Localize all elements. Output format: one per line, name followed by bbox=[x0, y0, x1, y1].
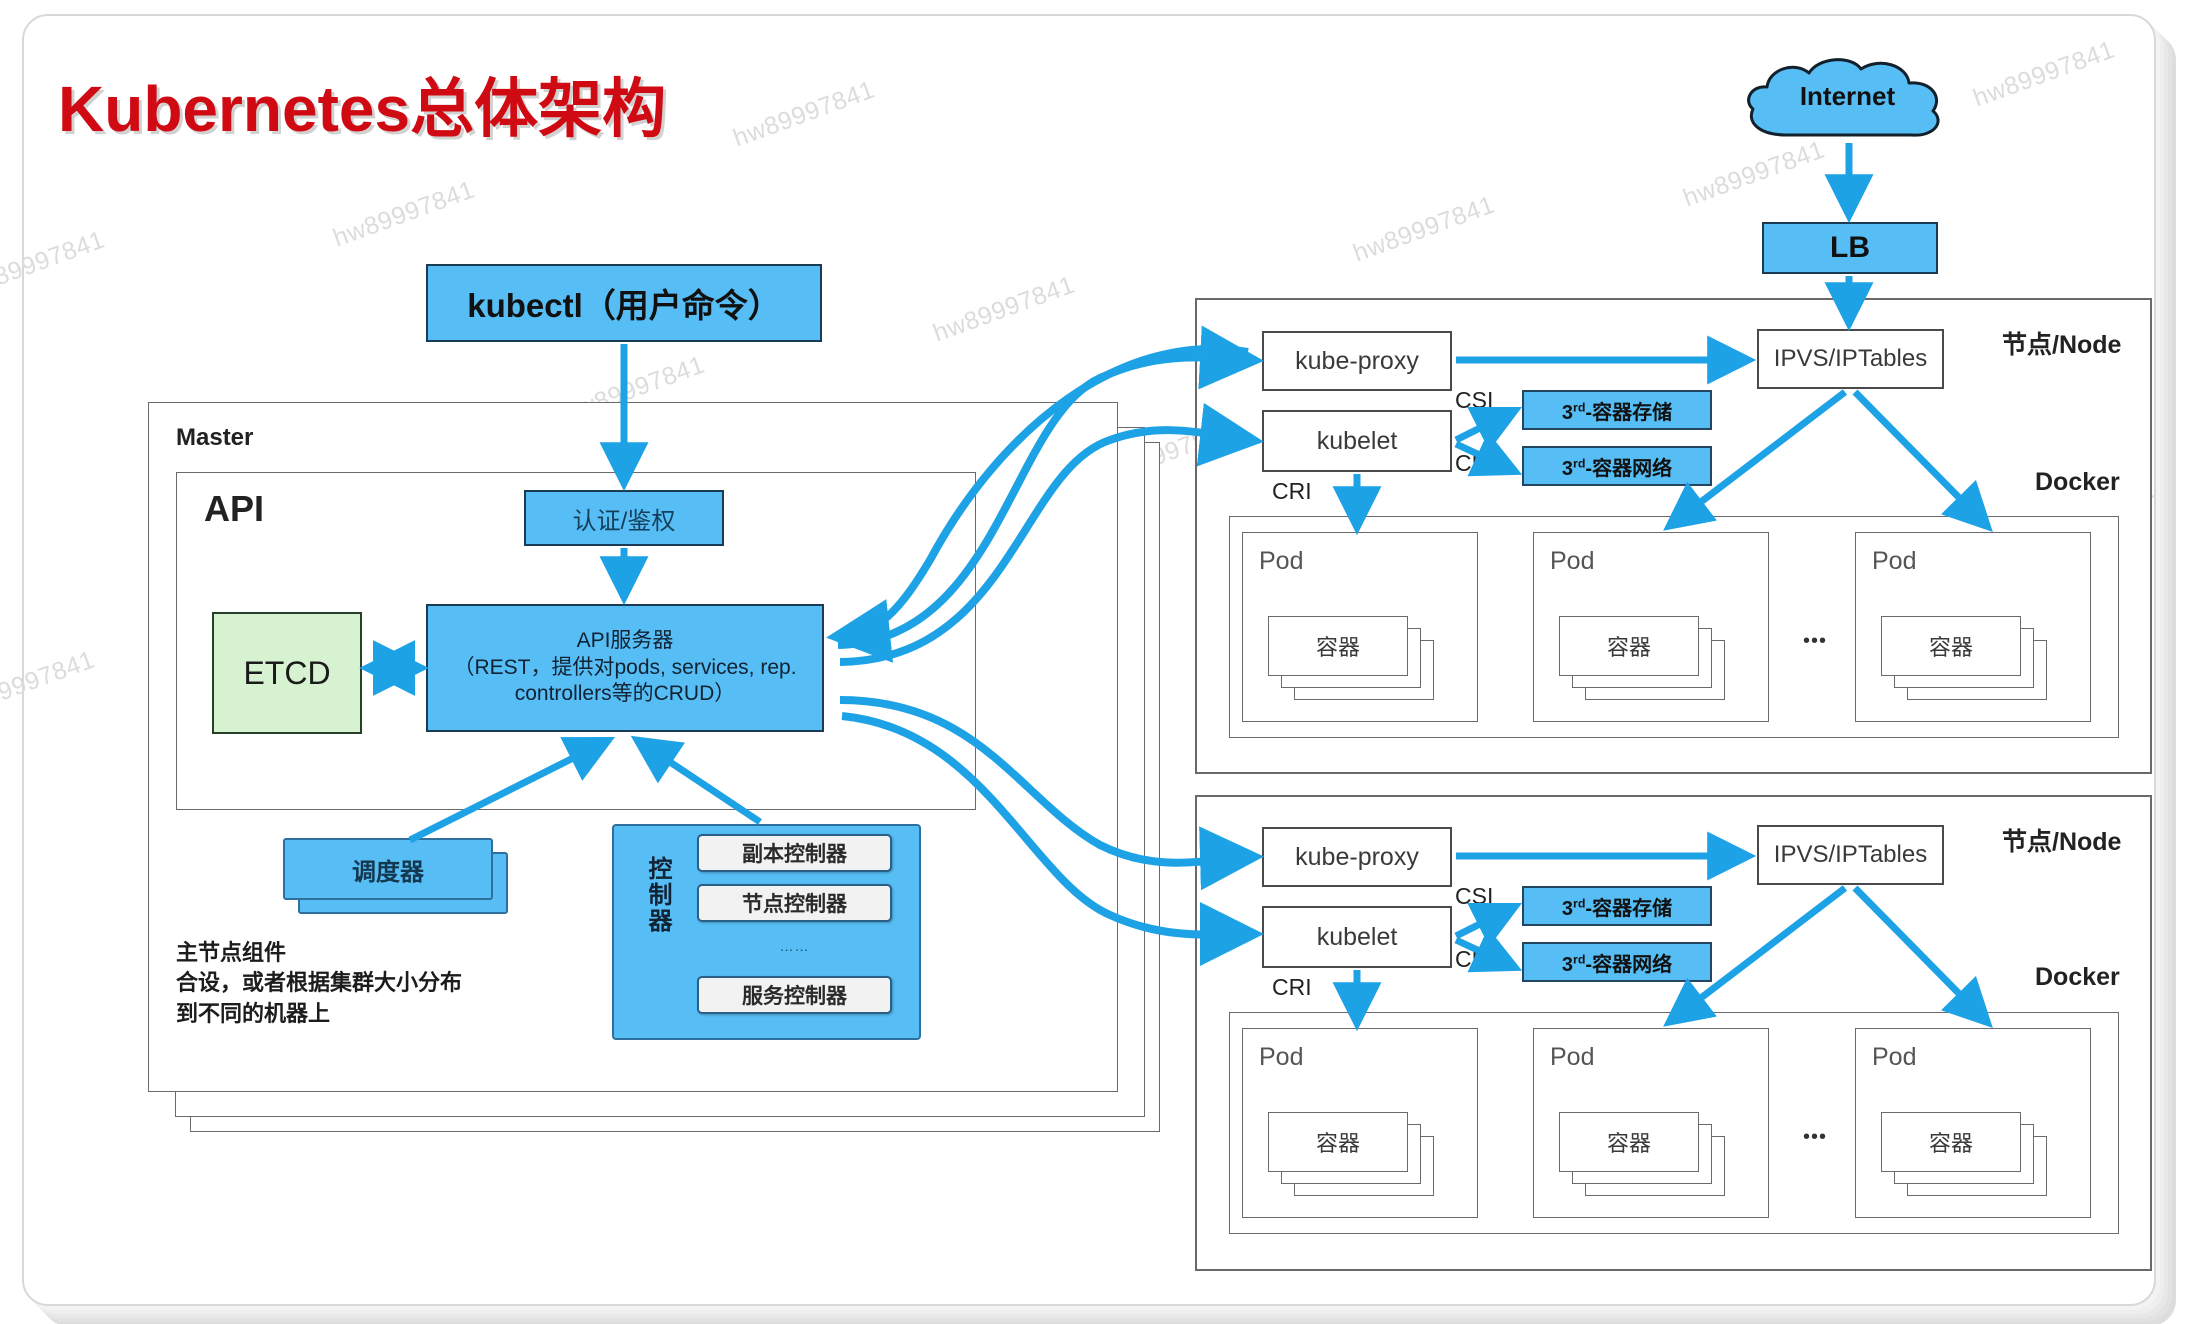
controller-item-1[interactable]: 节点控制器 bbox=[697, 884, 892, 922]
controller-item-label: 副本控制器 bbox=[742, 838, 847, 868]
lb-label: LB bbox=[1830, 231, 1870, 265]
pod-label: Pod bbox=[1550, 547, 1594, 576]
controller-item-label: 服务控制器 bbox=[742, 980, 847, 1010]
node-1-kube-proxy[interactable]: kube-proxy bbox=[1262, 331, 1452, 391]
master-label: Master bbox=[176, 424, 253, 452]
diagram-canvas: hw89997841 hw89997841 hw89997841 hw89997… bbox=[0, 0, 2198, 1324]
api-server-box[interactable]: API服务器 （REST，提供对pods, services, rep. con… bbox=[426, 604, 824, 732]
node-1-pod-1-container-1[interactable]: 容器 bbox=[1559, 616, 1699, 676]
api-server-line1: API服务器 bbox=[577, 628, 674, 655]
container-label: 容器 bbox=[1607, 1126, 1651, 1158]
node-2-cri-label: CRI bbox=[1272, 974, 1312, 1001]
pod-label: Pod bbox=[1259, 1043, 1303, 1072]
etcd-label: ETCD bbox=[243, 655, 330, 692]
node-2-docker-label: Docker bbox=[2035, 963, 2120, 992]
node-1-ipvs[interactable]: IPVS/IPTables bbox=[1757, 329, 1944, 389]
container-label: 容器 bbox=[1607, 630, 1651, 662]
api-server-line2: （REST，提供对pods, services, rep. bbox=[453, 655, 796, 682]
node-1-docker-label: Docker bbox=[2035, 468, 2120, 497]
node-2-pod-1-container-1[interactable]: 容器 bbox=[1559, 1112, 1699, 1172]
ipvs-label: IPVS/IPTables bbox=[1774, 345, 1927, 373]
master-note-line3: 到不同的机器上 bbox=[176, 999, 462, 1029]
node-1-pod-0-container-1[interactable]: 容器 bbox=[1268, 616, 1408, 676]
node-1-network-box[interactable]: 3rd-容器网络 bbox=[1522, 446, 1712, 486]
pod-label: Pod bbox=[1872, 547, 1916, 576]
kubelet-label: kubelet bbox=[1317, 923, 1398, 952]
node-2-csi-label: CSI bbox=[1455, 883, 1493, 910]
kubectl-box[interactable]: kubectl（用户命令） bbox=[426, 264, 822, 342]
node-1-kubelet[interactable]: kubelet bbox=[1262, 410, 1452, 472]
network-label: 3rd-容器网络 bbox=[1562, 452, 1672, 481]
internet-label: Internet bbox=[1735, 81, 1960, 112]
pod-label: Pod bbox=[1550, 1043, 1594, 1072]
container-label: 容器 bbox=[1316, 630, 1360, 662]
api-group-label: API bbox=[204, 488, 264, 530]
node-2-kube-proxy[interactable]: kube-proxy bbox=[1262, 827, 1452, 887]
node-2-ipvs[interactable]: IPVS/IPTables bbox=[1757, 825, 1944, 885]
node-1-cni-label: CNI bbox=[1455, 450, 1495, 477]
node-1-csi-label: CSI bbox=[1455, 387, 1493, 414]
node-2-pod-2-container-1[interactable]: 容器 bbox=[1881, 1112, 2021, 1172]
kube-proxy-label: kube-proxy bbox=[1295, 347, 1419, 376]
container-label: 容器 bbox=[1316, 1126, 1360, 1158]
controller-group-vertical-label: 控制器 bbox=[640, 856, 675, 934]
page-title: Kubernetes总体架构 bbox=[58, 58, 666, 150]
node-2-pods-ellipsis: ••• bbox=[1790, 1126, 1840, 1149]
api-server-line3: controllers等的CRUD） bbox=[515, 681, 736, 708]
internet-cloud: Internet bbox=[1735, 55, 1960, 147]
node-1-pods-ellipsis: ••• bbox=[1790, 630, 1840, 653]
storage-label: 3rd-容器存储 bbox=[1562, 396, 1672, 425]
pod-label: Pod bbox=[1259, 547, 1303, 576]
controller-item-label: 节点控制器 bbox=[742, 888, 847, 918]
kubectl-label: kubectl（用户命令） bbox=[467, 279, 781, 327]
node-2-kubelet[interactable]: kubelet bbox=[1262, 906, 1452, 968]
master-note-line1: 主节点组件 bbox=[176, 938, 462, 968]
network-label: 3rd-容器网络 bbox=[1562, 948, 1672, 977]
lb-box[interactable]: LB bbox=[1762, 222, 1938, 274]
node-2-storage-box[interactable]: 3rd-容器存储 bbox=[1522, 886, 1712, 926]
node-1-cri-label: CRI bbox=[1272, 478, 1312, 505]
auth-box[interactable]: 认证/鉴权 bbox=[524, 490, 724, 546]
controller-item-0[interactable]: 副本控制器 bbox=[697, 834, 892, 872]
container-label: 容器 bbox=[1929, 630, 1973, 662]
scheduler-label: 调度器 bbox=[352, 852, 424, 887]
controller-items-ellipsis: …… bbox=[697, 934, 892, 958]
node-2-cni-label: CNI bbox=[1455, 946, 1495, 973]
master-note: 主节点组件 合设，或者根据集群大小分布 到不同的机器上 bbox=[176, 938, 462, 1029]
node-2-network-box[interactable]: 3rd-容器网络 bbox=[1522, 942, 1712, 982]
kube-proxy-label: kube-proxy bbox=[1295, 843, 1419, 872]
kubelet-label: kubelet bbox=[1317, 427, 1398, 456]
master-note-line2: 合设，或者根据集群大小分布 bbox=[176, 968, 462, 998]
scheduler-box[interactable]: 调度器 bbox=[283, 838, 493, 900]
controller-item-3[interactable]: 服务控制器 bbox=[697, 976, 892, 1014]
node-1-storage-box[interactable]: 3rd-容器存储 bbox=[1522, 390, 1712, 430]
auth-label: 认证/鉴权 bbox=[573, 501, 676, 536]
node-1-pod-2-container-1[interactable]: 容器 bbox=[1881, 616, 2021, 676]
pod-label: Pod bbox=[1872, 1043, 1916, 1072]
node-1-title: 节点/Node bbox=[2002, 325, 2121, 361]
node-2-pod-0-container-1[interactable]: 容器 bbox=[1268, 1112, 1408, 1172]
ipvs-label: IPVS/IPTables bbox=[1774, 841, 1927, 869]
node-2-title: 节点/Node bbox=[2002, 822, 2121, 858]
container-label: 容器 bbox=[1929, 1126, 1973, 1158]
etcd-box[interactable]: ETCD bbox=[212, 612, 362, 734]
storage-label: 3rd-容器存储 bbox=[1562, 892, 1672, 921]
